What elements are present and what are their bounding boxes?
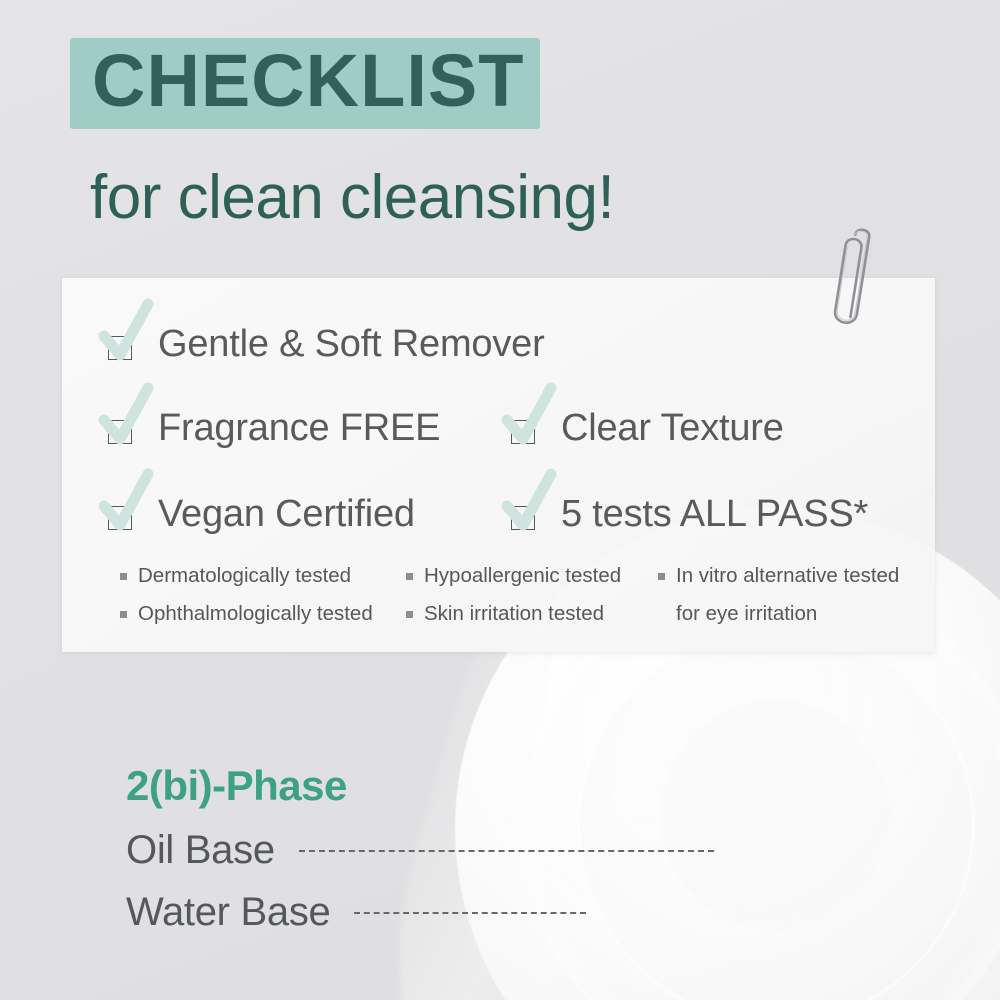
page-title: CHECKLIST (70, 38, 540, 129)
bullet-icon (406, 573, 413, 580)
checkbox-wrap[interactable] (102, 322, 146, 366)
test-label: Hypoallergenic tested (424, 566, 621, 587)
phase-row-water-base: Water Base (126, 890, 586, 935)
test-column-2: Hypoallergenic tested Skin irritation te… (406, 566, 621, 641)
test-label: Skin irritation tested (424, 604, 604, 625)
product-dish-core (660, 700, 890, 930)
test-label: Ophthalmologically tested (138, 604, 373, 625)
checklist-item-label: Vegan Certified (158, 493, 415, 536)
title-highlight-band: CHECKLIST (70, 38, 540, 129)
bullet-spacer (658, 611, 665, 618)
checklist-item-label: 5 tests ALL PASS* (561, 493, 868, 536)
page-subtitle: for clean cleansing! (90, 162, 614, 233)
test-label: Dermatologically tested (138, 566, 351, 587)
checklist-item-5-tests-all-pass[interactable]: 5 tests ALL PASS* (505, 492, 868, 536)
bullet-icon (406, 611, 413, 618)
test-list-item: Dermatologically tested (120, 566, 373, 587)
test-column-3: In vitro alternative tested for eye irri… (658, 566, 899, 641)
test-list-item: Hypoallergenic tested (406, 566, 621, 587)
bullet-icon (120, 573, 127, 580)
checkbox-wrap[interactable] (102, 406, 146, 450)
checkbox-wrap[interactable] (102, 492, 146, 536)
dashed-line (299, 850, 714, 852)
checklist-card: Gentle & Soft Remover Fragrance FREE (62, 278, 935, 652)
title-text: CHECKLIST (92, 45, 524, 117)
checklist-item-clear-texture[interactable]: Clear Texture (505, 406, 784, 450)
checkbox[interactable] (511, 420, 535, 444)
checklist-item-vegan-certified[interactable]: Vegan Certified (102, 492, 415, 536)
checkbox-wrap[interactable] (505, 406, 549, 450)
test-list-item-continuation: for eye irritation (658, 604, 899, 625)
phase-title: 2(bi)-Phase (126, 762, 347, 810)
checklist-item-gentle-soft-remover[interactable]: Gentle & Soft Remover (102, 322, 545, 366)
phase-label: Water Base (126, 890, 330, 935)
test-column-1: Dermatologically tested Ophthalmological… (120, 566, 373, 641)
checkbox[interactable] (108, 336, 132, 360)
phase-label: Oil Base (126, 828, 275, 873)
checklist-item-label: Fragrance FREE (158, 407, 440, 450)
checkbox[interactable] (108, 506, 132, 530)
dashed-line (354, 912, 586, 914)
test-list-item: Ophthalmologically tested (120, 604, 373, 625)
test-list-item: Skin irritation tested (406, 604, 621, 625)
checklist-item-label: Clear Texture (561, 407, 784, 450)
checkbox[interactable] (511, 506, 535, 530)
test-list-item: In vitro alternative tested (658, 566, 899, 587)
test-list: Dermatologically tested Ophthalmological… (62, 566, 935, 652)
checklist-item-fragrance-free[interactable]: Fragrance FREE (102, 406, 440, 450)
test-label: for eye irritation (676, 604, 817, 625)
bullet-icon (120, 611, 127, 618)
checklist-item-label: Gentle & Soft Remover (158, 323, 545, 366)
checkbox[interactable] (108, 420, 132, 444)
bullet-icon (658, 573, 665, 580)
test-label: In vitro alternative tested (676, 566, 899, 587)
phase-row-oil-base: Oil Base (126, 828, 714, 873)
checkbox-wrap[interactable] (505, 492, 549, 536)
poster-canvas: CHECKLIST for clean cleansing! Gentle & … (0, 0, 1000, 1000)
